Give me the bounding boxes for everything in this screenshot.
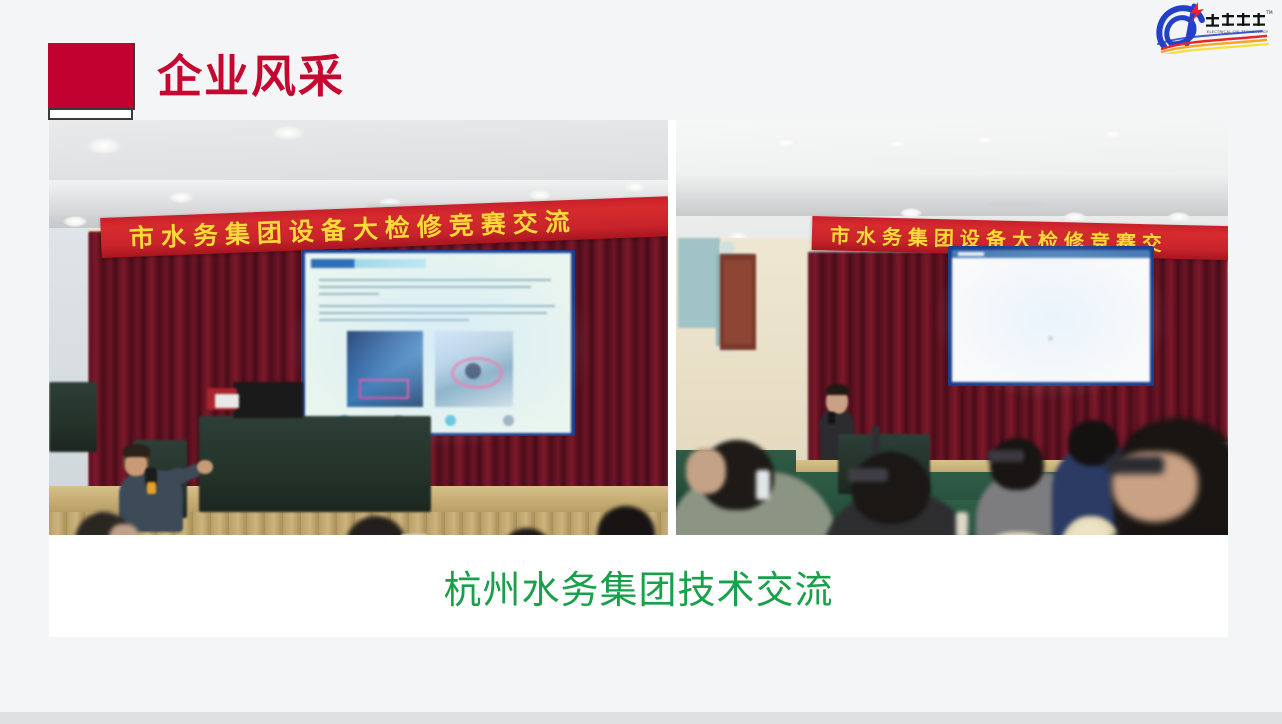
page-root: 企业风采 — [0, 0, 1282, 724]
page-header: 企业风采 — [0, 0, 1282, 120]
logo-trademark: TM — [1265, 10, 1273, 16]
page-title: 企业风采 — [157, 54, 345, 99]
caption-area: 杭州水务集团技术交流 — [49, 535, 1228, 637]
photo-speaker-presenting[interactable]: 市水务集团设备大检修竞赛交流 — [49, 120, 668, 535]
company-logo: ELECTRICAL CHI TECHNOLOGY TM — [1154, 0, 1276, 54]
photo-caption: 杭州水务集团技术交流 — [443, 559, 833, 614]
photo-row: 市水务集团设备大检修竞赛交流 — [49, 120, 1228, 535]
content-card: 市水务集团设备大检修竞赛交流 — [49, 120, 1228, 637]
logo-chinese-wordmark — [1206, 13, 1265, 27]
bottom-strip — [0, 712, 1282, 724]
photo-audience-seated[interactable]: 市水务集团设备大检修竞赛交 — [676, 120, 1228, 535]
red-accent-badge — [48, 43, 135, 110]
title-block: 企业风采 — [48, 43, 345, 110]
